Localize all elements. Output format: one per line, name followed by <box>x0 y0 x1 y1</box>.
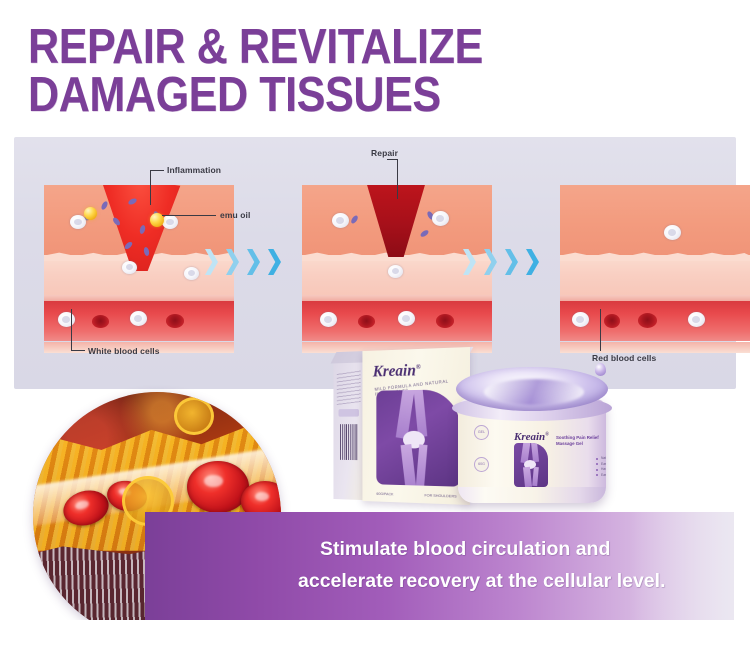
label-inflammation: Inflammation <box>167 165 221 175</box>
progress-chevron-icon <box>268 249 281 275</box>
white-blood-cell <box>70 215 86 229</box>
product-box: Kreain® MILD FORMULA AND NATURAL INGREDI… <box>333 347 470 507</box>
red-blood-cell <box>166 314 184 328</box>
headline-line-1: REPAIR & REVITALIZE <box>28 20 483 74</box>
label-emu-oil: emu oil <box>220 210 250 220</box>
progress-chevron-icon <box>247 249 260 275</box>
red-blood-cell <box>604 314 620 328</box>
caption-text: Stimulate blood circulation and accelera… <box>320 534 740 597</box>
progress-chevron-icon <box>484 249 497 275</box>
bottom-margin <box>0 620 750 664</box>
progress-chevron-icon <box>463 249 476 275</box>
jar-seal-bottom: 60G <box>474 457 489 472</box>
progress-chevron-icon <box>205 249 218 275</box>
leader-line <box>71 350 85 351</box>
jar-seal-top: GEL <box>474 425 489 440</box>
white-blood-cell <box>398 311 415 326</box>
jar-lid <box>452 361 612 423</box>
jar-subtitle: Soothing Pain Relief Massage Gel <box>556 435 606 448</box>
blood-vessel-group <box>44 295 234 353</box>
white-blood-cell <box>320 312 337 327</box>
progress-chevron-icon <box>226 249 239 275</box>
headline-line-2: DAMAGED TISSUES <box>28 72 609 120</box>
gel-swirl <box>484 379 584 405</box>
red-blood-cell <box>436 314 454 328</box>
white-blood-cell <box>162 215 178 229</box>
healing-wound <box>364 185 428 257</box>
label-repair: Repair <box>371 148 398 158</box>
product-jar: GEL 60G Kreain® Soothing Pain Relief <box>452 361 612 511</box>
leader-line <box>162 215 216 216</box>
epidermis-layer <box>560 185 750 257</box>
jar-brand-name: Kreain® <box>514 431 549 443</box>
white-blood-cell <box>332 213 349 228</box>
caption-line-1: Stimulate blood circulation and <box>320 538 610 560</box>
emu-oil-droplet <box>84 207 97 220</box>
jar-knee-illustration <box>514 443 548 487</box>
white-blood-cell <box>58 312 75 327</box>
leader-line <box>387 159 398 160</box>
progress-chevron-icon <box>505 249 518 275</box>
white-blood-cell <box>184 267 199 280</box>
red-blood-cell <box>187 461 249 513</box>
box-side-badge <box>338 409 358 417</box>
red-blood-cell <box>358 315 375 328</box>
box-side-panel <box>333 358 364 500</box>
blood-vessel <box>44 301 234 341</box>
box-size-text: 60G/PACK <box>376 491 393 496</box>
leader-line <box>150 171 151 205</box>
label-white-blood-cells: White blood cells <box>88 346 160 356</box>
infographic-page: REPAIR & REVITALIZE DAMAGED TISSUES <box>0 0 750 664</box>
list-item: Easy to carry when going out <box>596 473 606 478</box>
white-blood-cell <box>388 265 403 278</box>
white-blood-cell <box>130 311 147 326</box>
caption-banner: Stimulate blood circulation and accelera… <box>145 512 750 620</box>
white-blood-cell <box>432 211 449 226</box>
leader-line <box>150 170 164 171</box>
leader-line <box>397 159 398 199</box>
caption-line-2: accelerate recovery at the cellular leve… <box>298 566 740 598</box>
dermis-layer <box>560 255 750 299</box>
white-blood-cell <box>572 312 589 327</box>
box-brand-name: Kreain® <box>373 361 421 382</box>
white-blood-cell <box>688 312 705 327</box>
white-blood-cell <box>664 225 681 240</box>
leader-line <box>71 309 72 351</box>
box-side-text-lines <box>337 370 361 405</box>
red-blood-cell <box>638 313 657 328</box>
barcode <box>340 424 357 460</box>
jar-benefit-list: Natural ingredients Easy to absorb Have … <box>556 456 606 478</box>
page-title: REPAIR & REVITALIZE DAMAGED TISSUES <box>28 24 609 119</box>
product-group: Kreain® MILD FORMULA AND NATURAL INGREDI… <box>300 335 630 535</box>
box-knee-illustration <box>376 389 460 487</box>
white-blood-cell <box>122 261 137 274</box>
gel-droplet <box>595 363 606 376</box>
stage-3-healed-panel <box>560 185 750 353</box>
jar-gel-surface <box>456 367 608 411</box>
red-blood-cell <box>92 315 109 328</box>
progress-chevron-icon <box>526 249 539 275</box>
